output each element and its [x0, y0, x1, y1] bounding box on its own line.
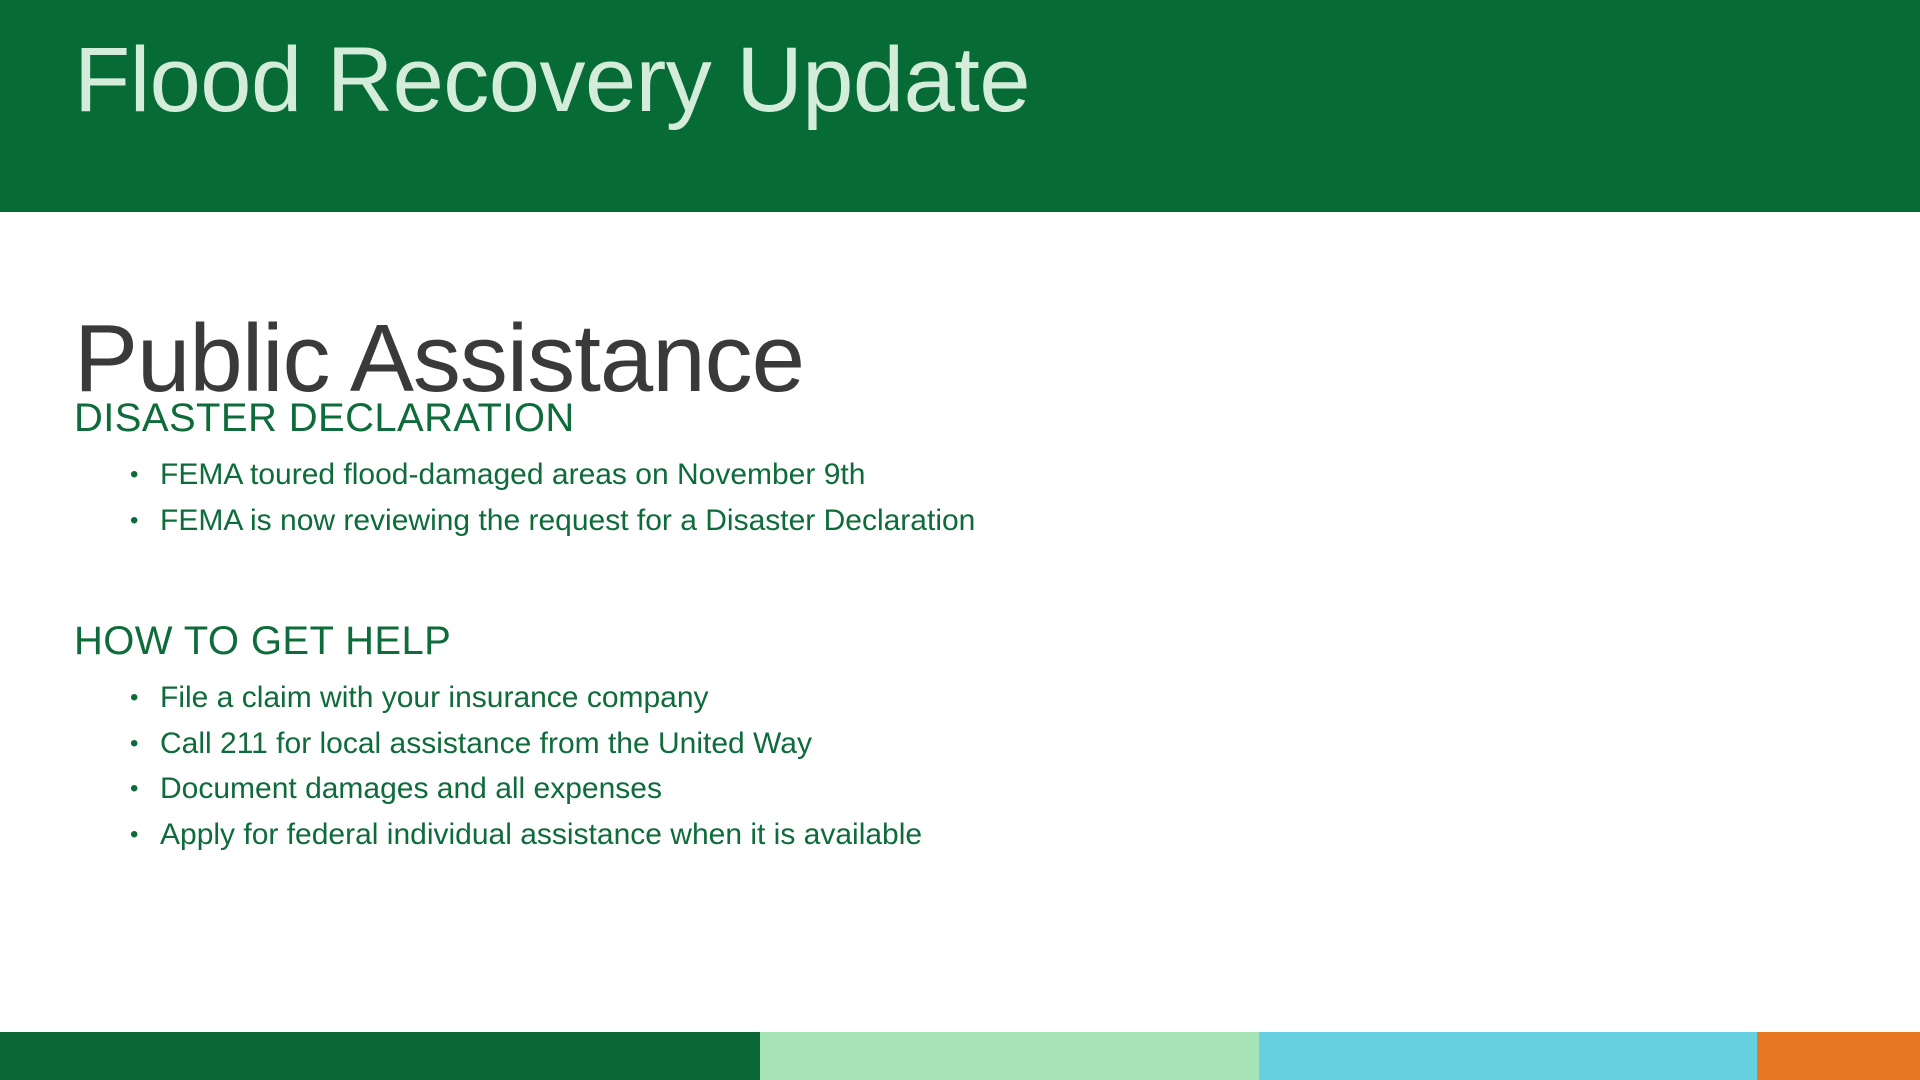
header-title: Flood Recovery Update [74, 28, 1030, 134]
list-item: Apply for federal individual assistance … [130, 812, 1920, 858]
section-heading-disaster-declaration: DISASTER DECLARATION [74, 392, 1920, 444]
footer-swatch-dark-green [0, 1032, 760, 1080]
bullet-list-how-to-get-help: File a claim with your insurance company… [0, 675, 1920, 857]
bullet-list-disaster-declaration: FEMA toured flood-damaged areas on Novem… [0, 452, 1920, 543]
list-item: FEMA toured flood-damaged areas on Novem… [130, 452, 1920, 498]
footer-swatch-cyan [1259, 1032, 1757, 1080]
footer-color-bar [0, 1032, 1920, 1080]
slide-body: Public Assistance DISASTER DECLARATION F… [0, 212, 1920, 1032]
section-heading-how-to-get-help: HOW TO GET HELP [74, 615, 1920, 667]
list-item: Document damages and all expenses [130, 766, 1920, 812]
list-item: File a claim with your insurance company [130, 675, 1920, 721]
list-item: Call 211 for local assistance from the U… [130, 721, 1920, 767]
footer-swatch-light-green [760, 1032, 1259, 1080]
list-item: FEMA is now reviewing the request for a … [130, 498, 1920, 544]
header-band: Flood Recovery Update [0, 0, 1920, 212]
footer-swatch-orange [1757, 1032, 1920, 1080]
section-how-to-get-help: HOW TO GET HELP File a claim with your i… [0, 615, 1920, 857]
sections-container: DISASTER DECLARATION FEMA toured flood-d… [0, 392, 1920, 858]
section-disaster-declaration: DISASTER DECLARATION FEMA toured flood-d… [0, 392, 1920, 543]
